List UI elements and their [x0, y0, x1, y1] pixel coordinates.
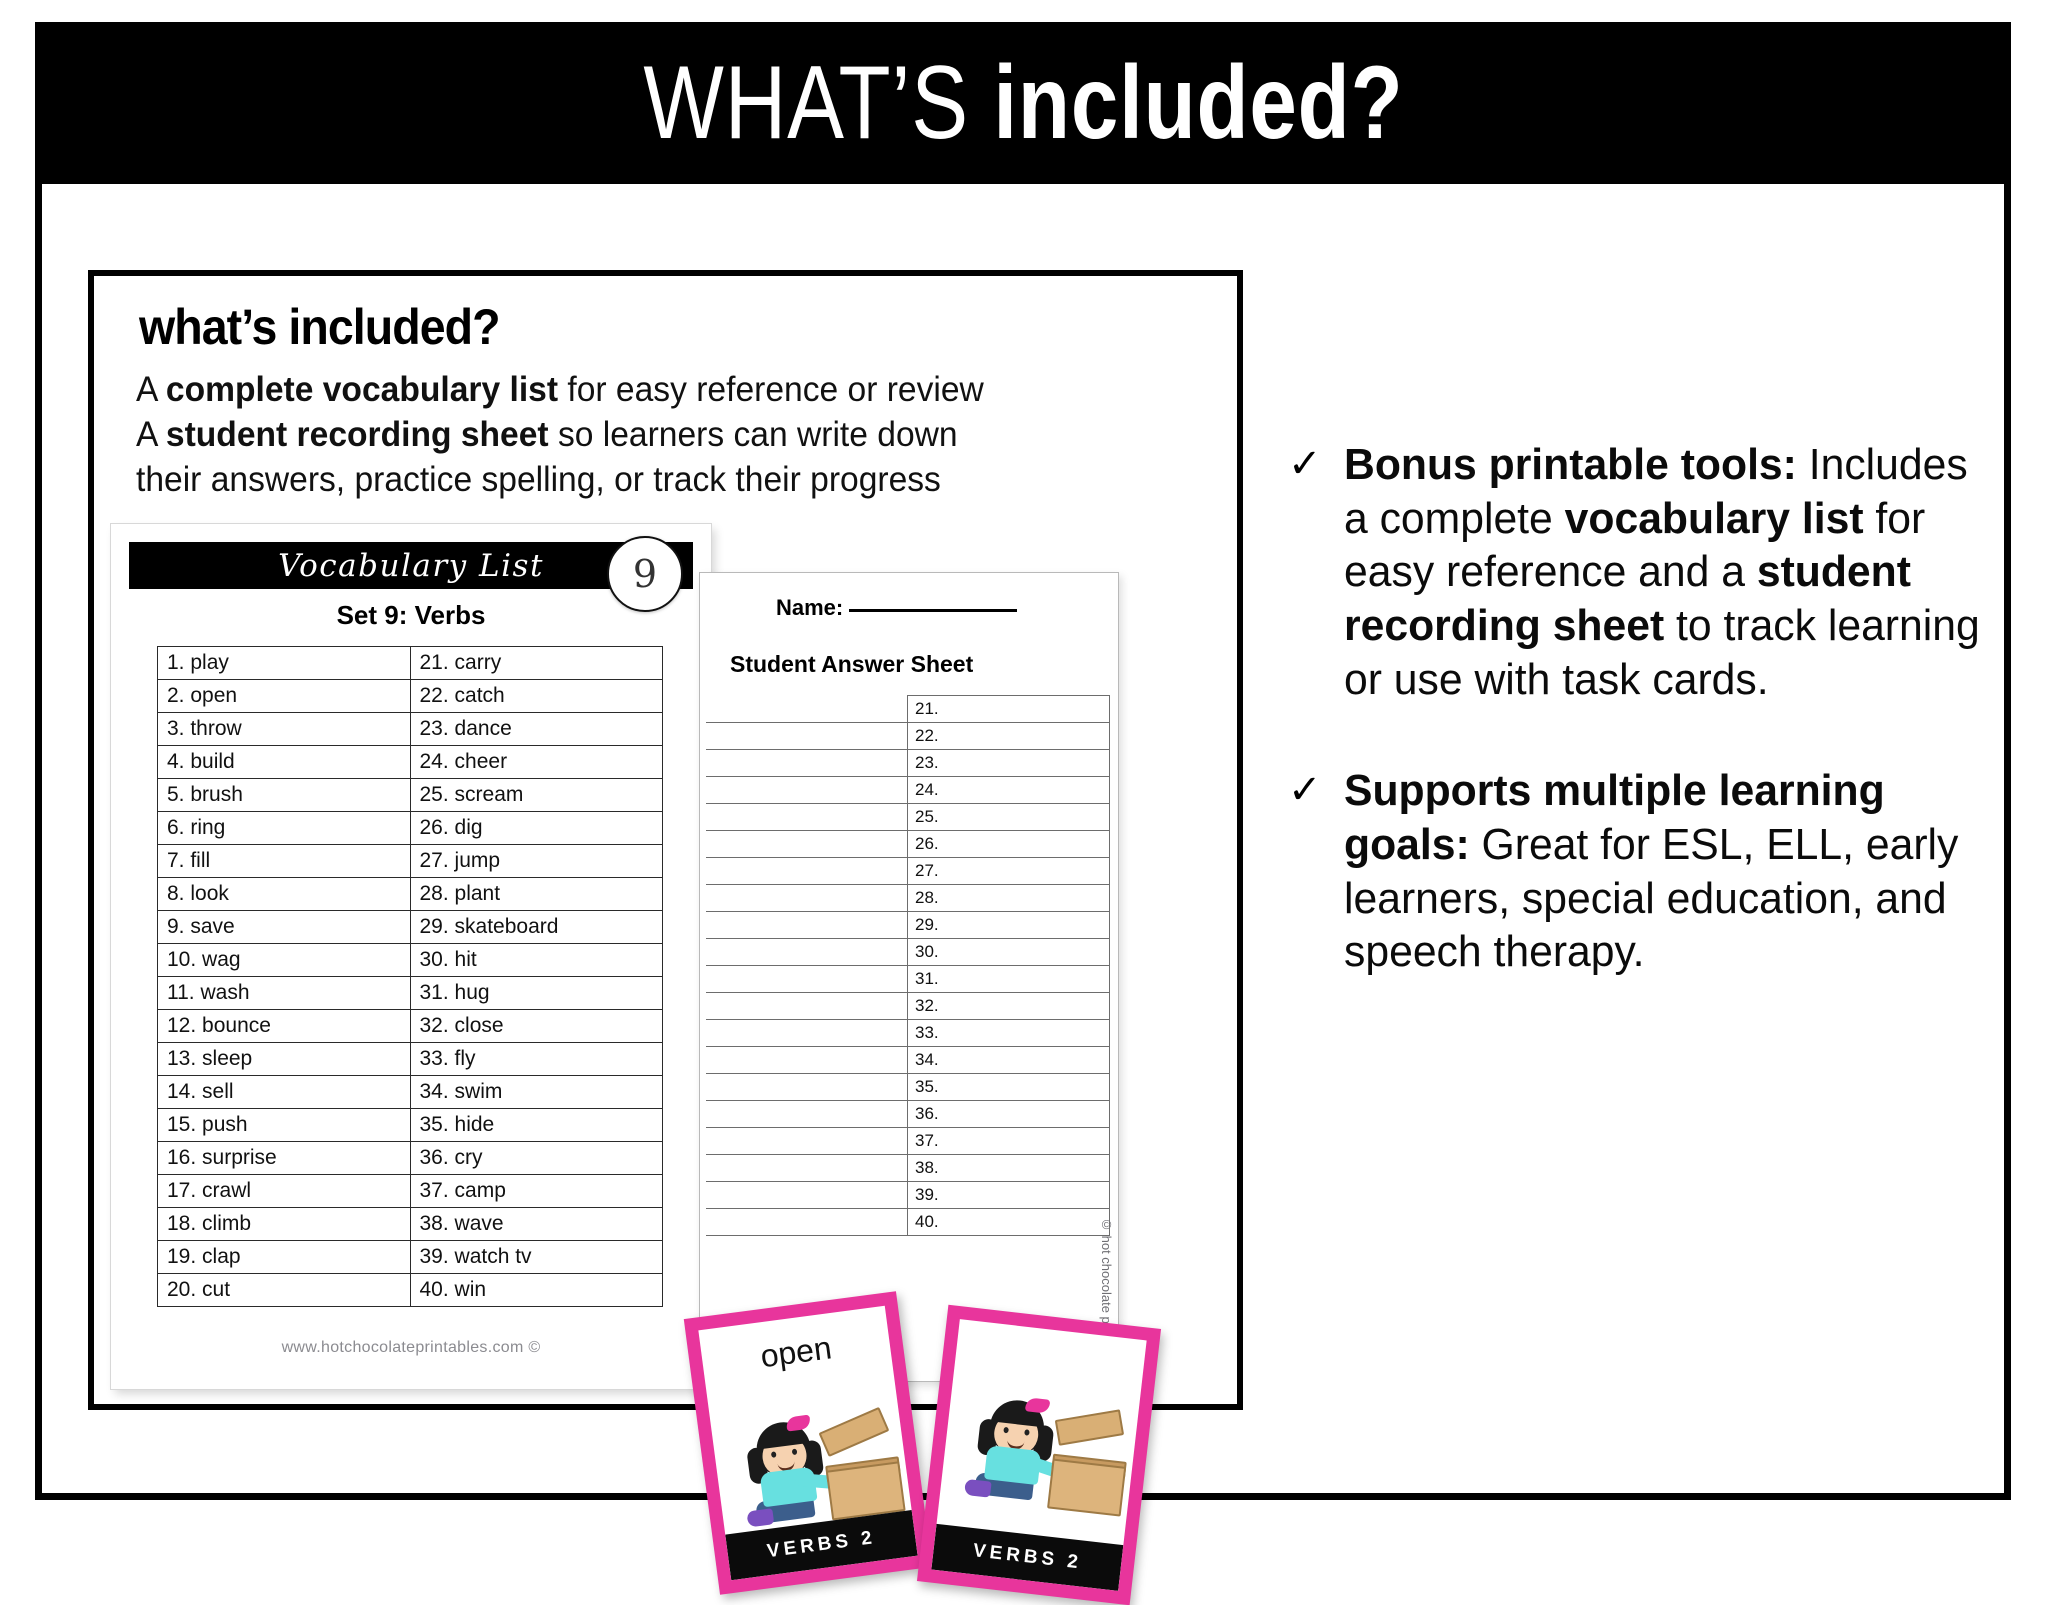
table-row: 35. — [706, 1074, 1110, 1101]
vocabulary-cell: 11. wash — [158, 977, 411, 1010]
table-row: 26. — [706, 831, 1110, 858]
table-row: 37. — [706, 1128, 1110, 1155]
vocabulary-cell: 16. surprise — [158, 1142, 411, 1175]
card-description-line-2: A student recording sheet so learners ca… — [136, 413, 1154, 458]
feature-bullet-list: ✓ Bonus printable tools: Includes a comp… — [1288, 438, 2008, 1037]
table-row: 22. — [706, 723, 1110, 750]
answer-number-cell[interactable]: 28. — [908, 885, 1110, 912]
check-icon: ✓ — [1288, 438, 1322, 706]
vocabulary-cell: 18. climb — [158, 1208, 411, 1241]
vocabulary-cell: 40. win — [410, 1274, 663, 1307]
table-row: 34. — [706, 1047, 1110, 1074]
vocabulary-cell: 23. dance — [410, 713, 663, 746]
answer-write-line[interactable] — [706, 1209, 908, 1236]
answer-sheet-name-field: Name: — [776, 595, 1017, 621]
hair-bow-icon — [786, 1415, 812, 1432]
vocabulary-cell: 5. brush — [158, 779, 411, 812]
table-row: 30. — [706, 939, 1110, 966]
vocabulary-cell: 36. cry — [410, 1142, 663, 1175]
answer-number-cell[interactable]: 24. — [908, 777, 1110, 804]
answer-number-cell[interactable]: 40. — [908, 1209, 1110, 1236]
vocabulary-cell: 1. play — [158, 647, 411, 680]
vocabulary-list-title: Vocabulary List — [278, 548, 544, 584]
page-title-thin: WHAT’S — [643, 45, 993, 161]
answer-number-cell[interactable]: 36. — [908, 1101, 1110, 1128]
table-row: 3. throw23. dance — [158, 713, 663, 746]
vocabulary-cell: 39. watch tv — [410, 1241, 663, 1274]
table-row: 15. push35. hide — [158, 1109, 663, 1142]
table-row: 2. open22. catch — [158, 680, 663, 713]
vocabulary-cell: 7. fill — [158, 845, 411, 878]
answer-write-line[interactable] — [706, 1128, 908, 1155]
table-row: 14. sell34. swim — [158, 1076, 663, 1109]
vocabulary-table: 1. play21. carry2. open22. catch3. throw… — [157, 646, 663, 1307]
check-icon: ✓ — [1288, 764, 1322, 979]
page-title-bold: included? — [993, 45, 1403, 161]
table-row: 18. climb38. wave — [158, 1208, 663, 1241]
vocabulary-cell: 4. build — [158, 746, 411, 779]
answer-number-cell[interactable]: 30. — [908, 939, 1110, 966]
vocabulary-cell: 32. close — [410, 1010, 663, 1043]
table-row: 13. sleep33. fly — [158, 1043, 663, 1076]
answer-write-line[interactable] — [706, 1074, 908, 1101]
vocabulary-cell: 37. camp — [410, 1175, 663, 1208]
table-row: 16. surprise36. cry — [158, 1142, 663, 1175]
flashcard-open: open VERBS 2 — [684, 1291, 932, 1595]
answer-sheet-table: 21.22.23.24.25.26.27.28.29.30.31.32.33.3… — [706, 695, 1110, 1236]
vocabulary-cell: 33. fly — [410, 1043, 663, 1076]
answer-write-line[interactable] — [706, 993, 908, 1020]
vocabulary-cell: 34. swim — [410, 1076, 663, 1109]
flashcard-illustration — [939, 1353, 1143, 1523]
vocabulary-cell: 21. carry — [410, 647, 663, 680]
table-row: 7. fill27. jump — [158, 845, 663, 878]
table-row: 19. clap39. watch tv — [158, 1241, 663, 1274]
vocabulary-cell: 20. cut — [158, 1274, 411, 1307]
included-card: what’s included? A complete vocabulary l… — [88, 270, 1243, 1410]
table-row: 31. — [706, 966, 1110, 993]
answer-sheet-title: Student Answer Sheet — [730, 651, 973, 678]
answer-number-cell[interactable]: 38. — [908, 1155, 1110, 1182]
vocabulary-cell: 38. wave — [410, 1208, 663, 1241]
table-row: 12. bounce32. close — [158, 1010, 663, 1043]
answer-number-cell[interactable]: 21. — [908, 696, 1110, 723]
vocabulary-cell: 35. hide — [410, 1109, 663, 1142]
answer-write-line[interactable] — [706, 777, 908, 804]
bullet-bonus-printable-tools: ✓ Bonus printable tools: Includes a comp… — [1288, 438, 2008, 706]
flashcard-open-alt: VERBS 2 — [917, 1305, 1161, 1605]
page-title: WHAT’S included? — [643, 51, 1403, 155]
vocabulary-cell: 8. look — [158, 878, 411, 911]
answer-number-cell[interactable]: 31. — [908, 966, 1110, 993]
answer-write-line[interactable] — [706, 1047, 908, 1074]
answer-number-cell[interactable]: 34. — [908, 1047, 1110, 1074]
slide-title-bar: WHAT’S included? — [35, 22, 2011, 184]
card-description: A complete vocabulary list for easy refe… — [136, 368, 1154, 502]
vocabulary-cell: 10. wag — [158, 944, 411, 977]
answer-write-line[interactable] — [706, 1182, 908, 1209]
answer-write-line[interactable] — [706, 966, 908, 993]
table-row: 36. — [706, 1101, 1110, 1128]
bullet-text: Supports multiple learning goals: Great … — [1344, 764, 1989, 979]
answer-number-cell[interactable]: 26. — [908, 831, 1110, 858]
card-heading: what’s included? — [139, 298, 500, 356]
vocabulary-set-subtitle: Set 9: Verbs — [129, 600, 693, 631]
vocabulary-cell: 19. clap — [158, 1241, 411, 1274]
vocabulary-cell: 27. jump — [410, 845, 663, 878]
vocabulary-cell: 31. hug — [410, 977, 663, 1010]
table-row: 29. — [706, 912, 1110, 939]
table-row: 38. — [706, 1155, 1110, 1182]
answer-number-cell[interactable]: 33. — [908, 1020, 1110, 1047]
vocabulary-cell: 17. crawl — [158, 1175, 411, 1208]
vocabulary-cell: 3. throw — [158, 713, 411, 746]
answer-number-cell[interactable]: 35. — [908, 1074, 1110, 1101]
table-row: 28. — [706, 885, 1110, 912]
vocabulary-cell: 28. plant — [410, 878, 663, 911]
flashcard-footer: VERBS 2 — [931, 1524, 1123, 1591]
answer-write-line[interactable] — [706, 723, 908, 750]
answer-write-line[interactable] — [706, 912, 908, 939]
cardboard-box-icon — [1047, 1459, 1126, 1517]
vocabulary-footer-url: www.hotchocolateprintables.com © — [111, 1339, 711, 1357]
student-answer-sheet: Name: Student Answer Sheet 21.22.23.24.2… — [699, 572, 1119, 1382]
table-row: 5. brush25. scream — [158, 779, 663, 812]
answer-number-cell[interactable]: 27. — [908, 858, 1110, 885]
vocabulary-cell: 12. bounce — [158, 1010, 411, 1043]
vocabulary-cell: 24. cheer — [410, 746, 663, 779]
table-row: 40. — [706, 1209, 1110, 1236]
flashcard-inner: open VERBS 2 — [698, 1306, 917, 1580]
name-write-line — [849, 609, 1017, 612]
answer-write-line[interactable] — [706, 1101, 908, 1128]
table-row: 9. save29. skateboard — [158, 911, 663, 944]
answer-write-line[interactable] — [706, 696, 908, 723]
vocabulary-cell: 13. sleep — [158, 1043, 411, 1076]
card-description-line-3: their answers, practice spelling, or tra… — [136, 458, 1154, 503]
table-row: 4. build24. cheer — [158, 746, 663, 779]
answer-number-cell[interactable]: 25. — [908, 804, 1110, 831]
vocabulary-cell: 9. save — [158, 911, 411, 944]
bullet-text: Bonus printable tools: Includes a comple… — [1344, 438, 1989, 706]
vocabulary-cell: 25. scream — [410, 779, 663, 812]
answer-write-line[interactable] — [706, 1155, 908, 1182]
vocabulary-cell: 22. catch — [410, 680, 663, 713]
table-row: 8. look28. plant — [158, 878, 663, 911]
table-row: 10. wag30. hit — [158, 944, 663, 977]
table-row: 39. — [706, 1182, 1110, 1209]
bullet-supports-multiple-learning-goals: ✓ Supports multiple learning goals: Grea… — [1288, 764, 2008, 979]
table-row: 32. — [706, 993, 1110, 1020]
answer-write-line[interactable] — [706, 750, 908, 777]
card-description-line-1: A complete vocabulary list for easy refe… — [136, 368, 1154, 413]
table-row: 6. ring26. dig — [158, 812, 663, 845]
answer-write-line[interactable] — [706, 804, 908, 831]
hair-bow-icon — [1025, 1397, 1050, 1414]
vocabulary-cell: 15. push — [158, 1109, 411, 1142]
answer-write-line[interactable] — [706, 1020, 908, 1047]
flashcard-inner: VERBS 2 — [931, 1319, 1146, 1591]
vocabulary-cell: 26. dig — [410, 812, 663, 845]
table-row: 23. — [706, 750, 1110, 777]
answer-write-line[interactable] — [706, 939, 908, 966]
answer-write-line[interactable] — [706, 858, 908, 885]
table-row: 17. crawl37. camp — [158, 1175, 663, 1208]
vocabulary-cell: 14. sell — [158, 1076, 411, 1109]
table-row: 25. — [706, 804, 1110, 831]
answer-number-cell[interactable]: 23. — [908, 750, 1110, 777]
vocabulary-cell: 2. open — [158, 680, 411, 713]
table-row: 21. — [706, 696, 1110, 723]
slide-canvas: WHAT’S included? what’s included? A comp… — [0, 0, 2048, 1536]
vocabulary-list-preview: Vocabulary List 9 Set 9: Verbs 1. play21… — [111, 524, 711, 1389]
table-row: 11. wash31. hug — [158, 977, 663, 1010]
answer-number-cell[interactable]: 39. — [908, 1182, 1110, 1209]
table-row: 20. cut40. win — [158, 1274, 663, 1307]
vocabulary-cell: 29. skateboard — [410, 911, 663, 944]
vocabulary-cell: 30. hit — [410, 944, 663, 977]
table-row: 33. — [706, 1020, 1110, 1047]
table-row: 27. — [706, 858, 1110, 885]
vocabulary-cell: 6. ring — [158, 812, 411, 845]
table-row: 24. — [706, 777, 1110, 804]
answer-number-cell[interactable]: 22. — [908, 723, 1110, 750]
answer-number-cell[interactable]: 29. — [908, 912, 1110, 939]
answer-number-cell[interactable]: 37. — [908, 1128, 1110, 1155]
answer-number-cell[interactable]: 32. — [908, 993, 1110, 1020]
table-row: 1. play21. carry — [158, 647, 663, 680]
answer-write-line[interactable] — [706, 885, 908, 912]
answer-write-line[interactable] — [706, 831, 908, 858]
